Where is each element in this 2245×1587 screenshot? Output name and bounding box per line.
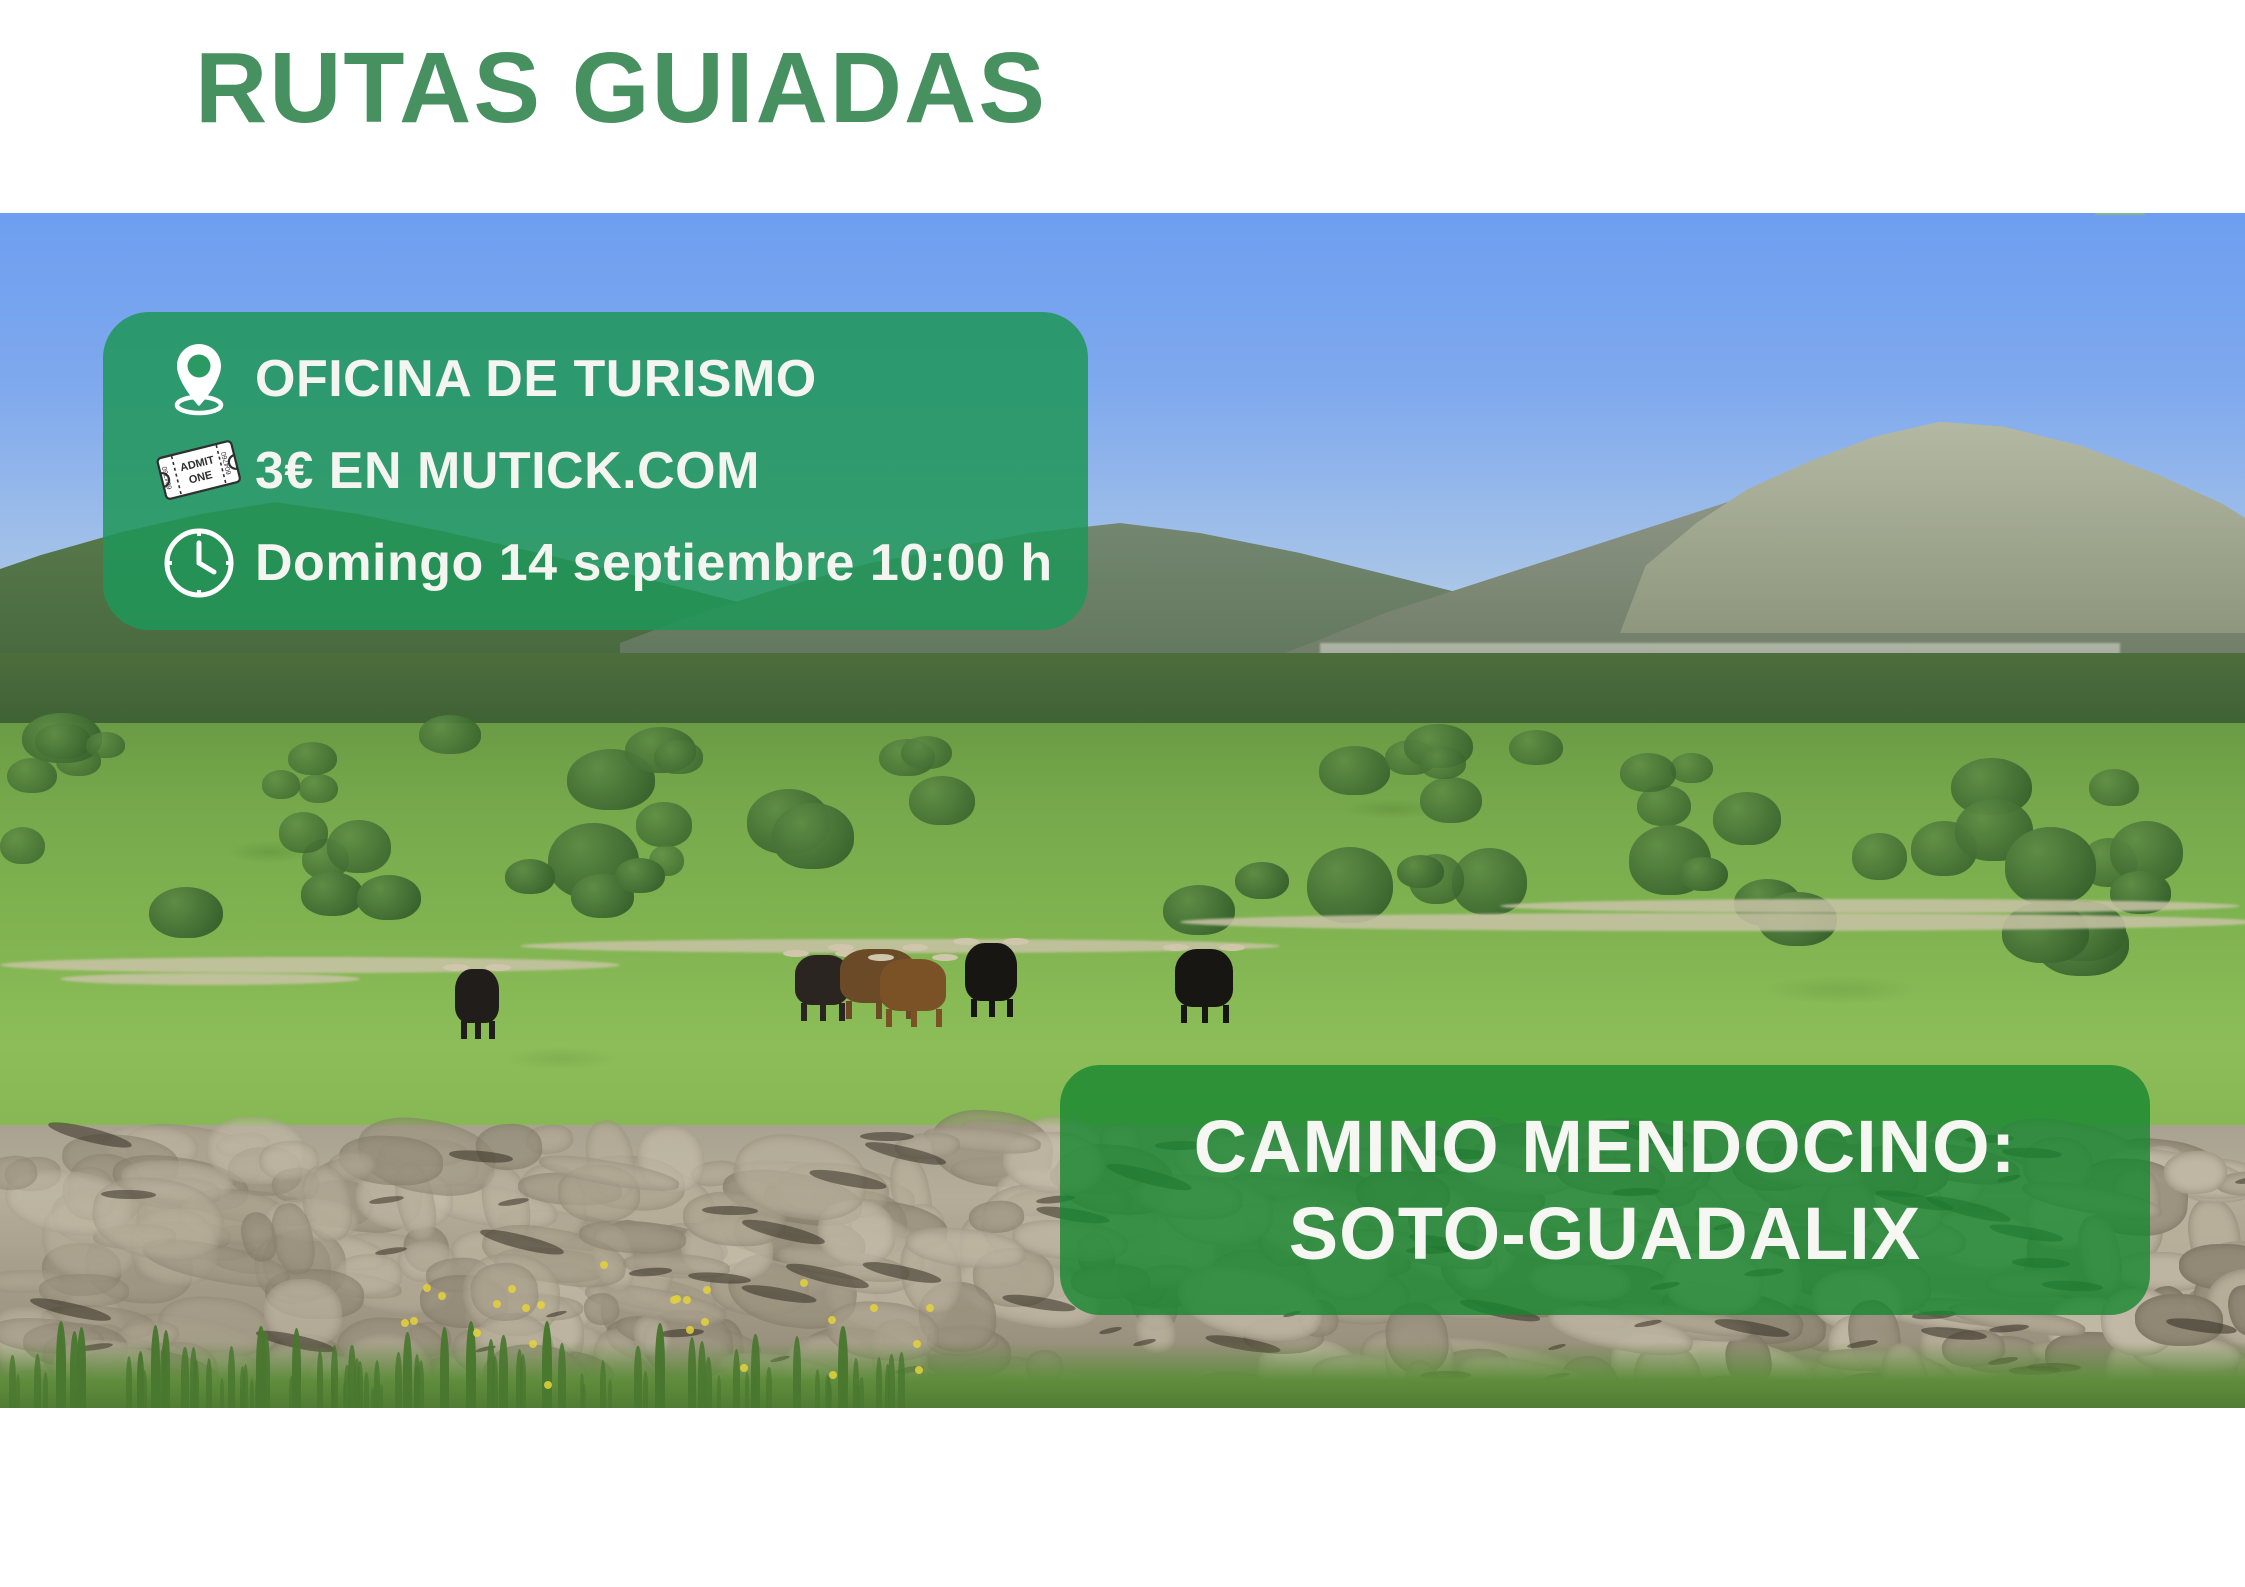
header-band: RUTAS GUIADAS: [0, 0, 2245, 213]
ticket-icon: ADMIT ONE 604760 604760: [143, 436, 255, 506]
info-row-datetime: Domingo 14 septiembre 10:00 h: [143, 517, 1088, 609]
bull: [1175, 949, 1233, 1007]
route-title-line2: SOTO-GUADALIX: [1289, 1190, 1921, 1277]
page-title: RUTAS GUIADAS: [195, 38, 1047, 138]
info-row-price: ADMIT ONE 604760 604760 3€ EN MUTICK.COM: [143, 425, 1088, 517]
info-datetime-text: Domingo 14 septiembre 10:00 h: [255, 533, 1053, 593]
info-price-text: 3€ EN MUTICK.COM: [255, 441, 760, 501]
event-info-card: OFICINA DE TURISMO ADMIT ONE 604760 6047…: [103, 312, 1088, 630]
bull: [880, 959, 946, 1011]
location-pin-icon: [143, 341, 255, 417]
clock-icon: [143, 525, 255, 601]
info-row-location: OFICINA DE TURISMO: [143, 333, 1088, 425]
route-title-line1: CAMINO MENDOCINO:: [1194, 1103, 2017, 1190]
footer-band: [0, 1408, 2245, 1587]
info-location-text: OFICINA DE TURISMO: [255, 349, 817, 409]
route-title-card: CAMINO MENDOCINO: SOTO-GUADALIX: [1060, 1065, 2150, 1315]
bull: [455, 969, 499, 1023]
bull: [965, 943, 1017, 1001]
